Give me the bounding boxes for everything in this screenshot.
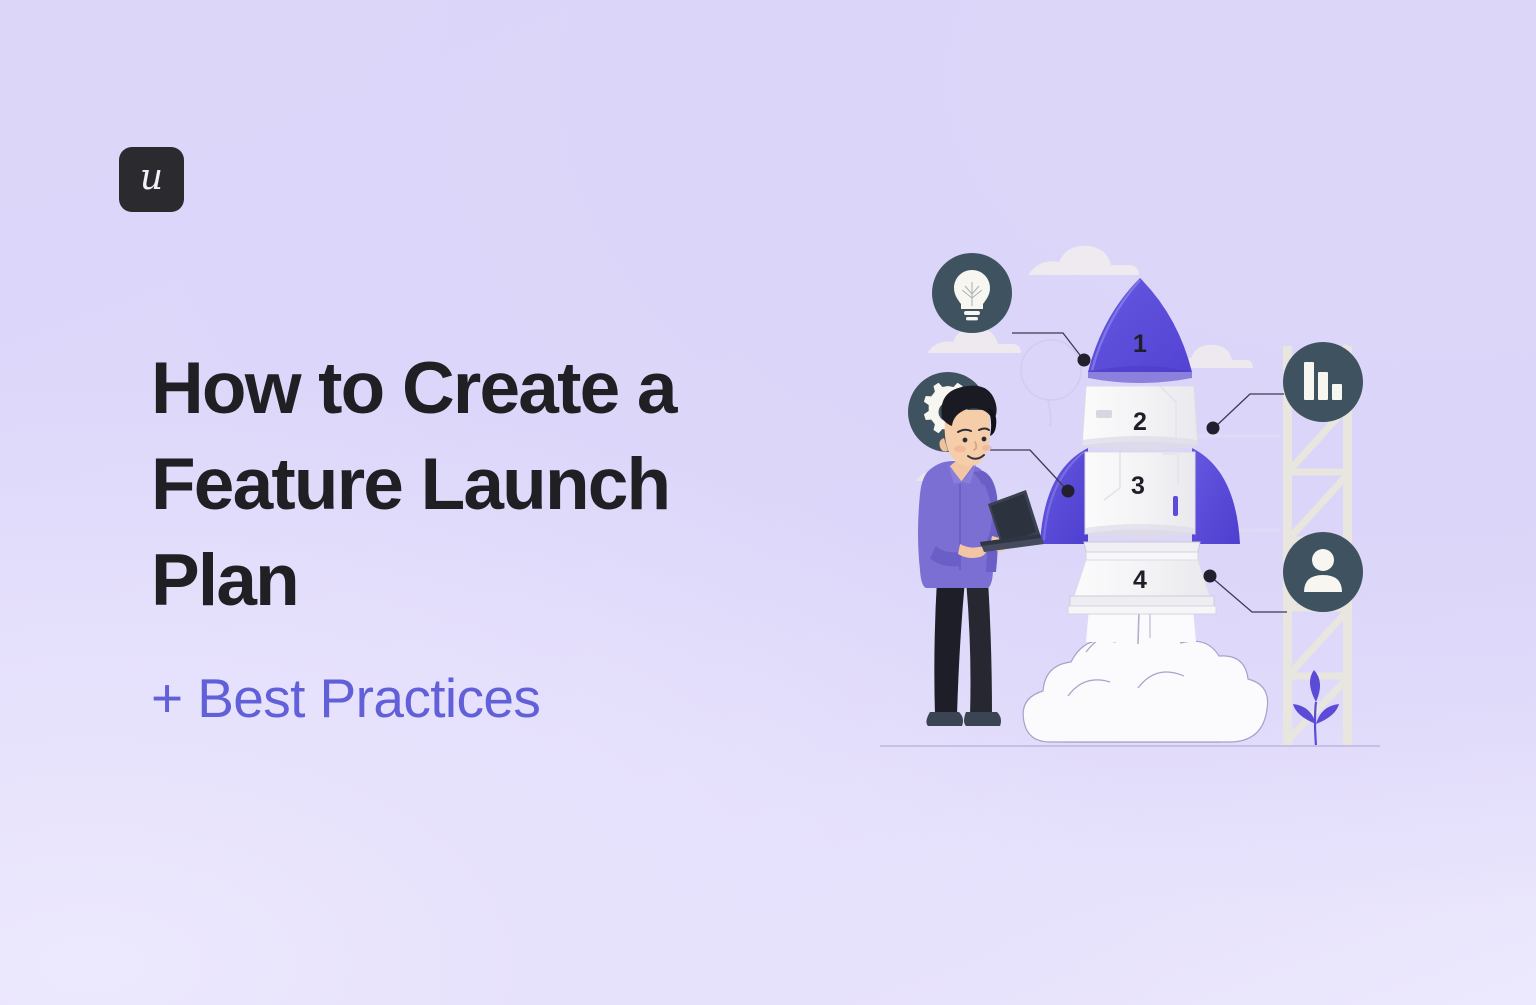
svg-text:2: 2 (1133, 408, 1147, 436)
bar-chart-icon-badge (1283, 342, 1363, 422)
rocket-engine-step-4: 4 (1068, 542, 1216, 614)
svg-text:3: 3 (1131, 472, 1145, 500)
userpilot-logo[interactable]: u (119, 147, 184, 212)
svg-text:1: 1 (1133, 330, 1147, 358)
page-title: How to Create a Feature Launch Plan (151, 341, 771, 629)
logo-glyph: u (140, 160, 163, 196)
rocket-nose-step-1: 1 (1088, 278, 1192, 383)
lightbulb-icon-badge (932, 253, 1012, 333)
person-icon-badge (1283, 532, 1363, 612)
feature-launch-rocket-illustration: 1 2 3 (880, 240, 1380, 770)
svg-text:4: 4 (1133, 566, 1147, 594)
rocket-body-step-2: 2 (1082, 386, 1198, 451)
plant (1293, 670, 1339, 746)
rocket-body-step-3: 3 (1085, 452, 1195, 539)
page-subtitle: + Best Practices (151, 667, 771, 729)
page-canvas: u How to Create a Feature Launch Plan + … (0, 0, 1536, 1005)
hero-text-block: How to Create a Feature Launch Plan + Be… (151, 341, 771, 729)
